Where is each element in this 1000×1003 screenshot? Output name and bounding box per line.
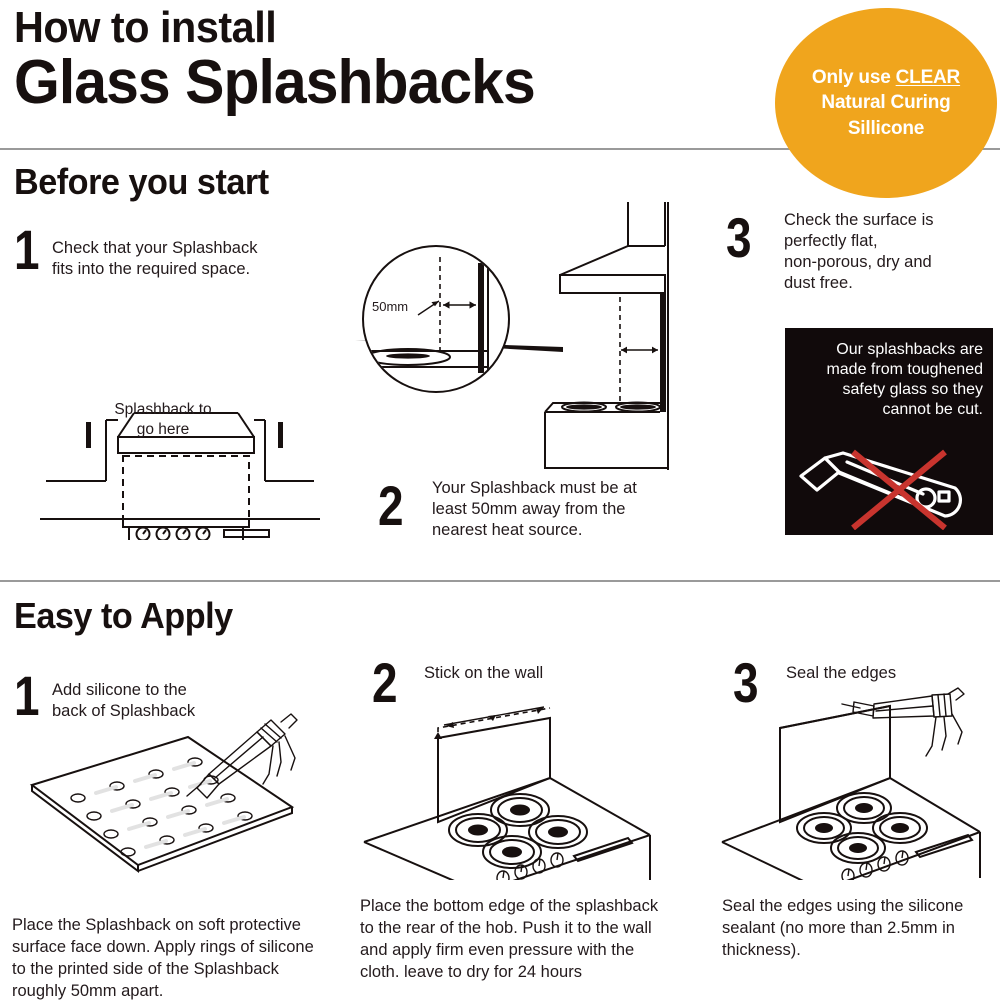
warning-panel-text: Our splashbacks are made from toughened … — [795, 340, 983, 421]
utility-knife-crossed-out-icon — [795, 448, 985, 530]
badge-line-1: Only use CLEAR — [812, 65, 960, 90]
diagram-label-line-1: Splashback to — [98, 400, 228, 420]
caption-apply-2: Place the bottom edge of the splashback … — [360, 896, 660, 984]
caption-apply-3: Seal the edges using the silicone sealan… — [722, 896, 984, 962]
warning-panel-cannot-be-cut: Our splashbacks are made from toughened … — [785, 328, 993, 535]
badge-line-3: Sillicone — [848, 116, 924, 141]
section-title-easy-to-apply: Easy to Apply — [14, 598, 233, 634]
step-text-before-2: Your Splashback must be at least 50mm aw… — [432, 478, 688, 541]
diagram-label-splashback-here: Splashback to go here — [98, 400, 228, 440]
step-text-before-1: Check that your Splashback fits into the… — [52, 238, 317, 280]
page-title-line-1: How to install — [14, 6, 276, 50]
badge-clear-emphasis: CLEAR — [896, 67, 960, 88]
divider-middle — [0, 580, 1000, 582]
page-title-line-2: Glass Splashbacks — [14, 52, 535, 114]
magnifier-measure-label: 50mm — [372, 299, 408, 314]
diagram-label-line-2: go here — [98, 420, 228, 440]
step-number-before-1: 1 — [14, 222, 40, 278]
badge-line-1-prefix: Only use — [812, 67, 896, 88]
silicone-gun-icon-apply-3 — [840, 684, 970, 776]
caption-apply-1: Place the Splashback on soft protective … — [12, 915, 322, 1003]
step-number-before-3: 3 — [726, 210, 752, 266]
silicone-gun-icon-apply-1 — [185, 712, 305, 804]
step-text-before-3: Check the surface is perfectly flat, non… — [784, 210, 996, 294]
diagram-magnified-clearance: 50mm — [360, 243, 520, 395]
badge-line-2: Natural Curing — [821, 90, 950, 115]
step-number-before-2: 2 — [378, 478, 404, 534]
diagram-stick-on-wall — [360, 680, 690, 880]
section-title-before-you-start: Before you start — [14, 164, 269, 200]
silicone-warning-badge: Only use CLEAR Natural Curing Sillicone — [775, 8, 997, 198]
